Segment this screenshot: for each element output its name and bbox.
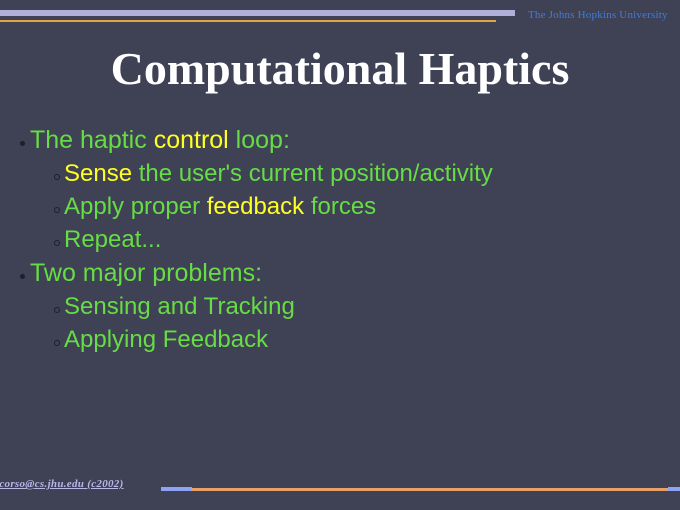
bullet-plain-text: Apply proper <box>64 193 207 220</box>
bullet-plain-text: Repeat... <box>64 226 161 253</box>
bullet-item: Repeat... <box>0 228 680 252</box>
bullet-item: Sensing and Tracking <box>0 295 680 319</box>
bullet-circle-icon <box>54 240 60 246</box>
bullet-item: Sense the user's current position/activi… <box>0 162 680 186</box>
bullet-circle-icon <box>54 340 60 346</box>
bullet-plain-text: Two major problems: <box>30 259 262 287</box>
bullet-circle-icon <box>54 174 60 180</box>
bullet-item: The haptic control loop: <box>0 128 680 153</box>
footer-rule-blue-left <box>161 487 192 491</box>
bullet-text: Repeat... <box>64 228 161 252</box>
bullet-circle-icon <box>54 307 60 313</box>
bullet-highlight-text: feedback <box>207 193 304 220</box>
bullet-text: The haptic control loop: <box>30 128 290 153</box>
bullet-list: The haptic control loop:Sense the user's… <box>0 128 680 361</box>
header-rule-lavender <box>0 10 515 16</box>
bullet-text: Two major problems: <box>30 261 262 286</box>
bullet-plain-text: Sensing and Tracking <box>64 293 295 320</box>
page-title: Computational Haptics <box>0 42 680 95</box>
bullet-text: Applying Feedback <box>64 328 268 352</box>
bullet-highlight-text: control <box>154 126 229 154</box>
header-rule-orange <box>0 20 496 22</box>
bullet-plain-text: loop: <box>229 126 290 154</box>
bullet-plain-text: The haptic <box>30 126 154 154</box>
slide: The Johns Hopkins University Computation… <box>0 0 680 510</box>
university-label: The Johns Hopkins University <box>528 9 678 21</box>
bullet-highlight-text: Sense <box>64 160 132 187</box>
bullet-plain-text: Applying Feedback <box>64 326 268 353</box>
bullet-disc-icon <box>20 141 25 146</box>
bullet-text: Sense the user's current position/activi… <box>64 162 493 186</box>
bullet-item: Apply proper feedback forces <box>0 195 680 219</box>
bullet-plain-text: forces <box>304 193 376 220</box>
bullet-text: Apply proper feedback forces <box>64 195 376 219</box>
bullet-circle-icon <box>54 207 60 213</box>
bullet-item: Applying Feedback <box>0 328 680 352</box>
footer-rule-blue-right <box>668 487 680 491</box>
footer-email-link[interactable]: jcorso@cs.jhu.edu (c2002) <box>0 478 124 490</box>
footer-rule-orange <box>191 488 669 491</box>
bullet-plain-text: the user's current position/activity <box>132 160 493 187</box>
bullet-disc-icon <box>20 274 25 279</box>
bullet-item: Two major problems: <box>0 261 680 286</box>
bullet-text: Sensing and Tracking <box>64 295 295 319</box>
